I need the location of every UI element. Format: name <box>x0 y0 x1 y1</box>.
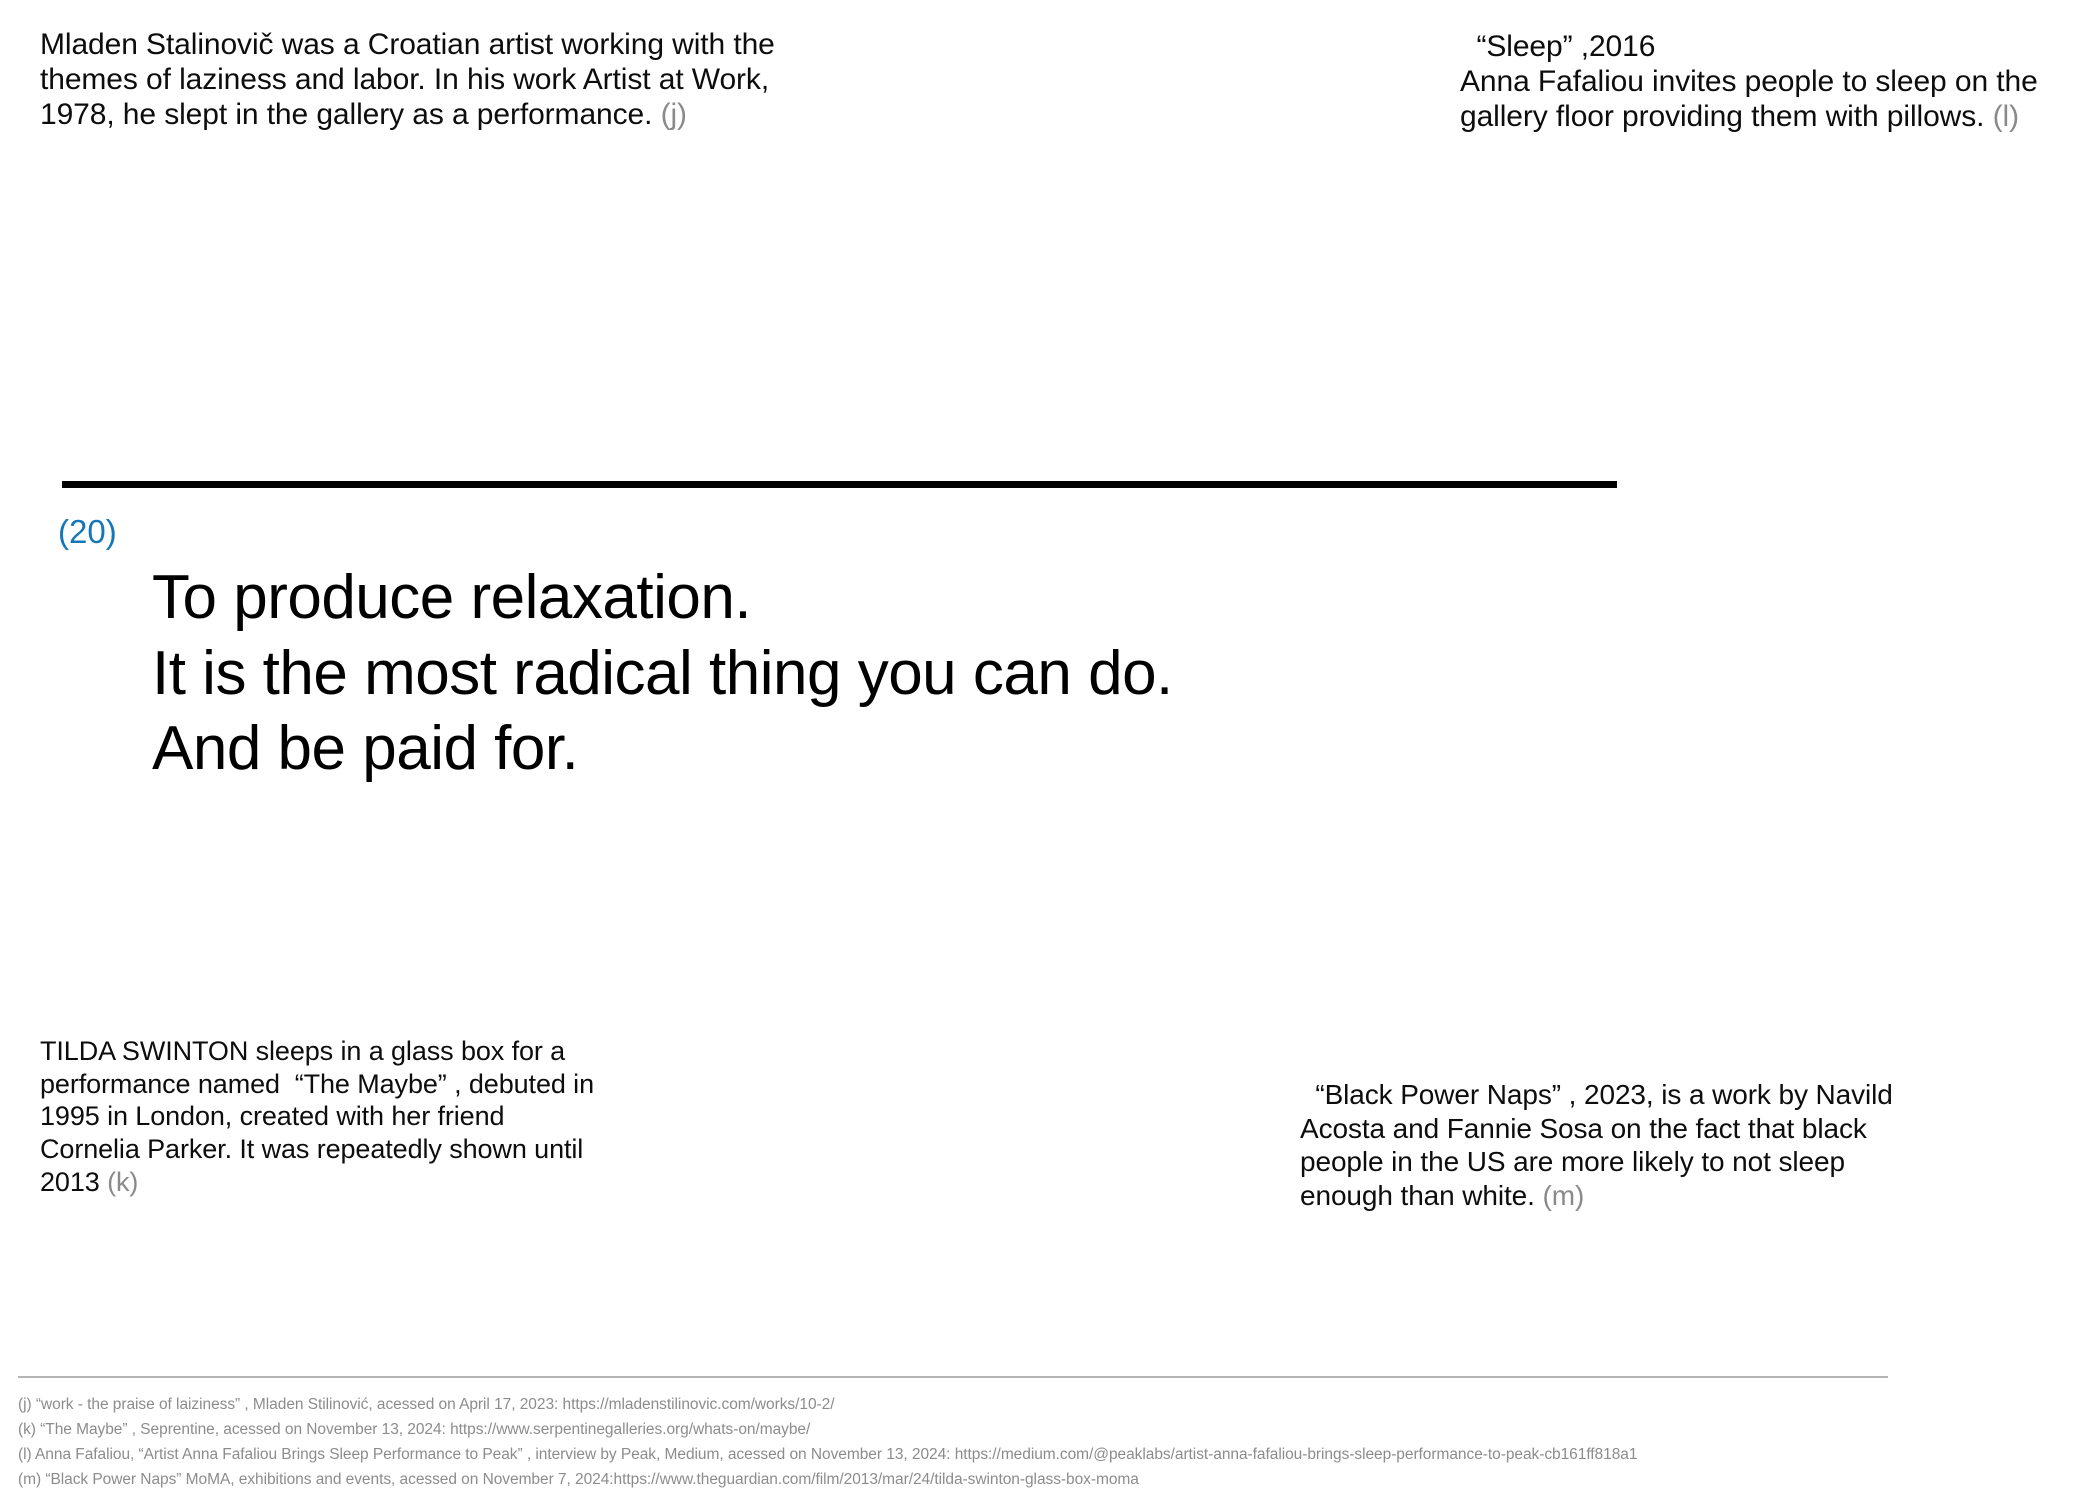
note-black-power-naps-ref: (m) <box>1543 1180 1585 1211</box>
note-sleep-ref: (l) <box>1993 100 2019 133</box>
footnote-line: (k) “The Maybe” , Seprentine, acessed on… <box>18 1417 2068 1442</box>
note-black-power-naps-text: “Black Power Naps” , 2023, is a work by … <box>1300 1079 1899 1211</box>
footnote-line: (l) Anna Fafaliou, “Artist Anna Fafaliou… <box>18 1442 2068 1467</box>
footnote-list: (j) “work - the praise of laiziness” , M… <box>18 1392 2068 1492</box>
quote-divider-rule <box>62 481 1617 488</box>
note-sleep-text: “Sleep” ,2016 Anna Fafaliou invites peop… <box>1460 30 2046 133</box>
note-tilda-swinton-ref: (k) <box>107 1167 138 1197</box>
footnote-divider-rule <box>18 1376 1888 1378</box>
note-stalinovic-ref: (j) <box>661 98 687 131</box>
note-stalinovic: Mladen Stalinovič was a Croatian artist … <box>40 28 840 132</box>
note-black-power-naps: “Black Power Naps” , 2023, is a work by … <box>1300 1078 1900 1212</box>
footnote-line: (j) “work - the praise of laiziness” , M… <box>18 1392 2068 1417</box>
note-tilda-swinton: TILDA SWINTON sleeps in a glass box for … <box>40 1035 600 1198</box>
note-sleep: “Sleep” ,2016 Anna Fafaliou invites peop… <box>1460 30 2060 134</box>
quote-number: (20) <box>58 513 117 551</box>
quote-text: To produce relaxation. It is the most ra… <box>152 560 1652 787</box>
footnote-line: (m) “Black Power Naps” MoMA, exhibitions… <box>18 1467 2068 1492</box>
